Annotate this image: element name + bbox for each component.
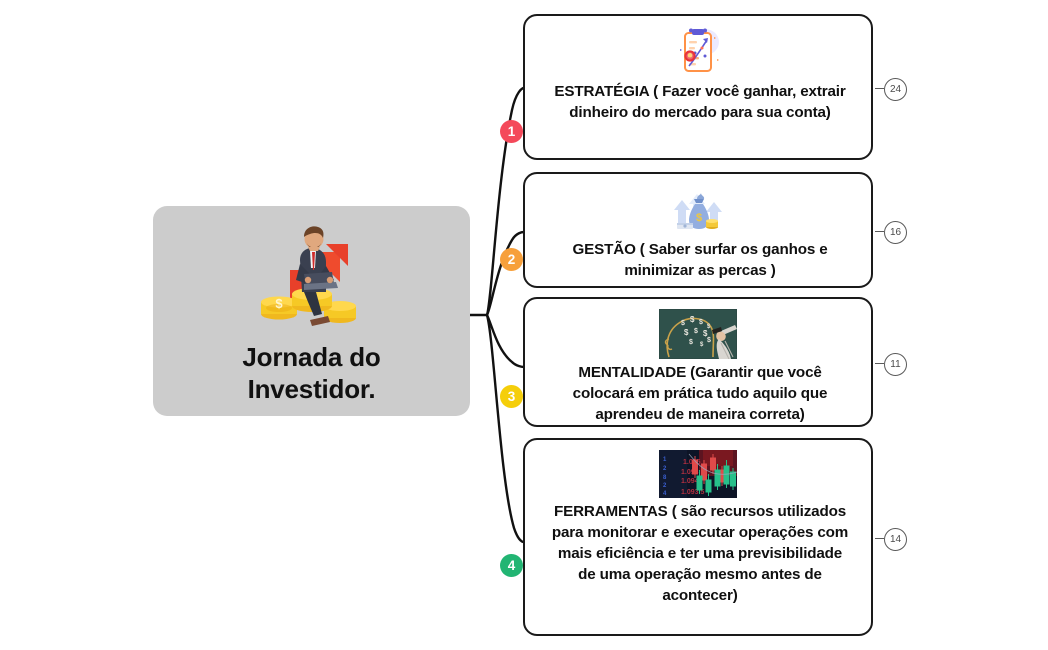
candlestick-trading-chart-icon: 1 2 8 2 4 1.095 1.093 1.0942 1.093.5 [659, 450, 737, 498]
clipboard-strategy-chart-icon [669, 26, 727, 78]
branch-number-3: 3 [500, 385, 523, 408]
branch-node-4[interactable]: 1 2 8 2 4 1.095 1.093 1.0942 1.093.5 [523, 438, 873, 636]
branch-number-1: 1 [500, 120, 523, 143]
count-stem-3 [875, 363, 884, 364]
central-node-title: Jornada do Investidor. [182, 342, 442, 406]
svg-text:$: $ [689, 339, 693, 346]
svg-text:$: $ [690, 315, 695, 324]
branch-label-2: GESTÃO ( Saber surfar os ganhos e minimi… [539, 240, 857, 282]
branch-label-4: FERRAMENTAS ( são recursos utilizados pa… [539, 502, 857, 607]
branch-node-1[interactable]: ESTRATÉGIA ( Fazer você ganhar, extrair … [523, 14, 873, 160]
count-stem-4 [875, 538, 884, 539]
svg-text:$: $ [696, 212, 702, 224]
businessman-laptop-coins-arrow-illustration: $ [252, 222, 372, 334]
branch-count-4[interactable]: 14 [884, 528, 907, 551]
branch-count-1[interactable]: 24 [884, 78, 907, 101]
branch-count-2[interactable]: 16 [884, 221, 907, 244]
central-node[interactable]: $ [153, 206, 470, 416]
mindset-head-dollar-chalkboard-icon: $ $ $ $ $ $ $ $ $ $ [659, 309, 737, 359]
count-stem-1 [875, 88, 884, 89]
mindmap-canvas: $ [0, 0, 1048, 650]
branch-label-1: ESTRATÉGIA ( Fazer você ganhar, extrair … [539, 82, 857, 124]
branch-node-2[interactable]: $ GESTÃO ( Saber surfar os ganhos e mini… [523, 172, 873, 288]
svg-text:$: $ [699, 319, 703, 326]
count-stem-2 [875, 231, 884, 232]
branch-node-3[interactable]: $ $ $ $ $ $ $ $ $ $ [523, 297, 873, 427]
svg-text:$: $ [275, 296, 283, 311]
branch-label-3: MENTALIDADE (Garantir que você colocará … [539, 363, 857, 426]
svg-text:$: $ [694, 328, 698, 335]
svg-text:$: $ [707, 337, 711, 344]
branch-number-2: 2 [500, 248, 523, 271]
branch-number-4: 4 [500, 554, 523, 577]
svg-text:$: $ [684, 328, 689, 337]
branch-count-3[interactable]: 11 [884, 353, 907, 376]
svg-text:$: $ [681, 320, 685, 327]
money-bag-growth-arrows-icon: $ [669, 184, 727, 236]
